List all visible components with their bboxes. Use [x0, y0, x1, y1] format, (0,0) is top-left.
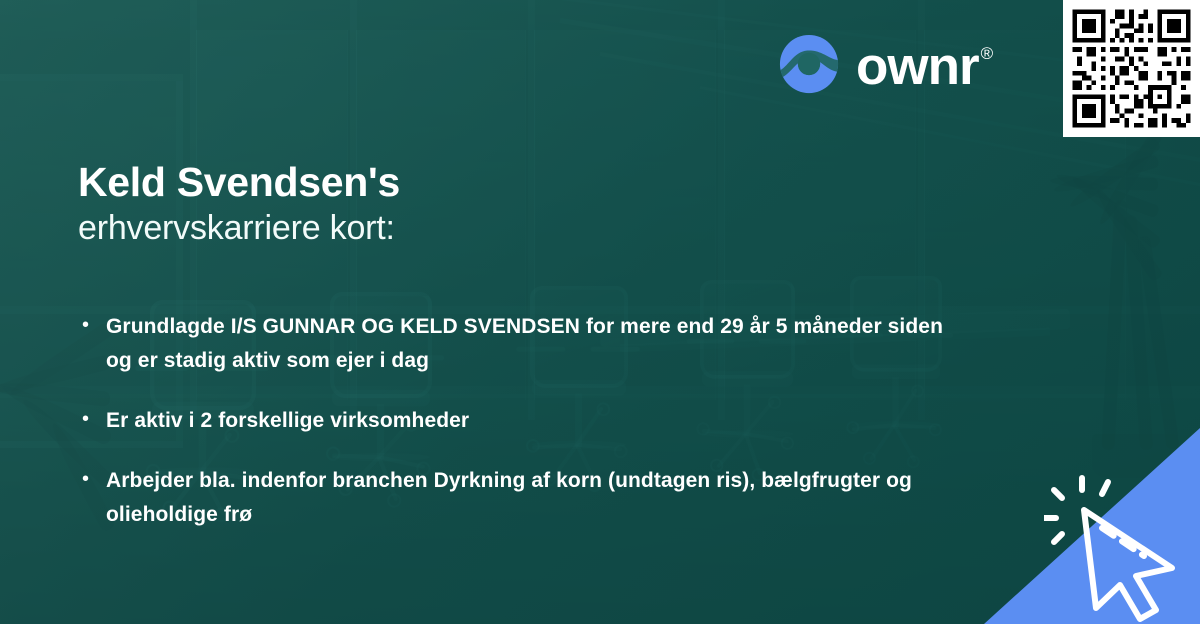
page-title-line-1: Keld Svendsen's	[78, 158, 778, 206]
career-summary-list: • Grundlagde I/S GUNNAR OG KELD SVENDSEN…	[80, 310, 980, 558]
ownr-wordmark-text: ownr	[856, 37, 979, 96]
qr-code-icon	[1063, 0, 1200, 137]
ownr-wordmark: ownr®	[856, 40, 990, 93]
qr-code-card[interactable]	[1063, 0, 1200, 137]
list-item-label: Arbejder bla. indenfor branchen Dyrkning…	[106, 464, 951, 532]
bullet-marker-icon: •	[80, 310, 106, 378]
corner-accent	[984, 428, 1200, 624]
promo-card: ownr®	[0, 0, 1200, 624]
list-item-label: Er aktiv i 2 forskellige virksomheder	[106, 404, 469, 438]
registered-trademark-icon: ®	[981, 44, 993, 63]
page-title: Keld Svendsen's erhvervskarriere kort:	[78, 158, 778, 252]
list-item-label: Grundlagde I/S GUNNAR OG KELD SVENDSEN f…	[106, 310, 951, 378]
list-item: • Er aktiv i 2 forskellige virksomheder	[80, 404, 980, 438]
page-title-line-2: erhvervskarriere kort:	[78, 206, 778, 252]
list-item: • Grundlagde I/S GUNNAR OG KELD SVENDSEN…	[80, 310, 980, 378]
ownr-logo[interactable]: ownr®	[778, 33, 990, 95]
bullet-marker-icon: •	[80, 464, 106, 532]
ownr-circular-swirl-icon	[778, 33, 840, 95]
list-item: • Arbejder bla. indenfor branchen Dyrkni…	[80, 464, 980, 532]
bullet-marker-icon: •	[80, 404, 106, 438]
